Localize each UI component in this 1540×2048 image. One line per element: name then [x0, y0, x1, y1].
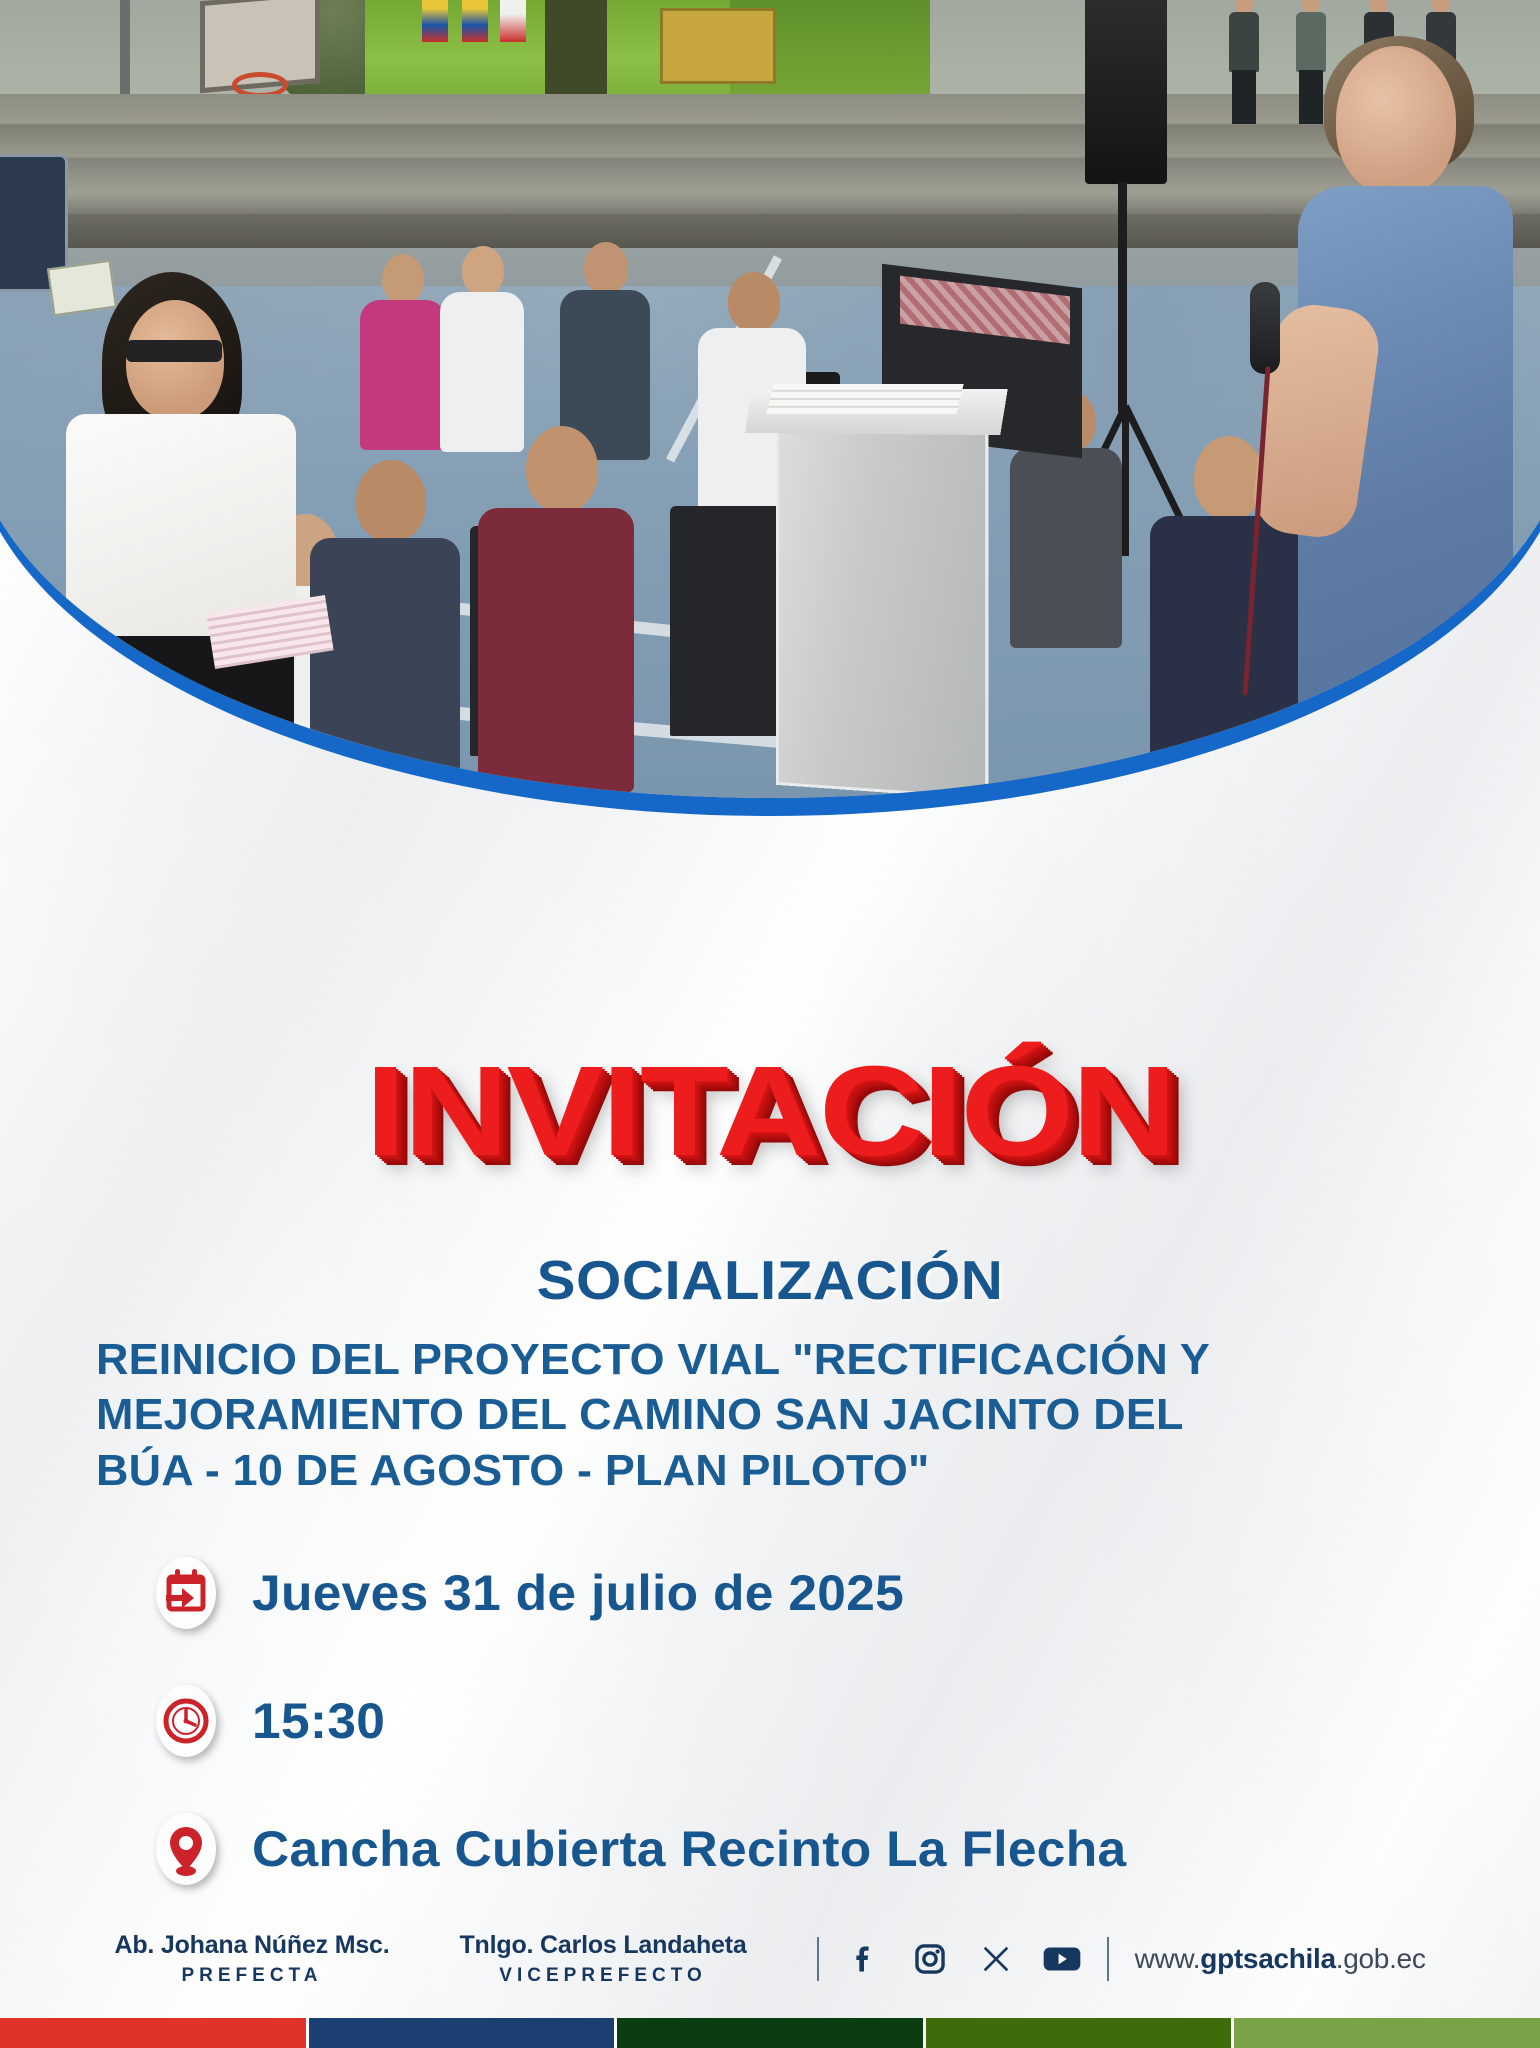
- speaker-stand: [1118, 182, 1127, 412]
- detail-row-date: Jueves 31 de julio de 2025: [156, 1545, 1306, 1641]
- facebook-icon[interactable]: [845, 1940, 883, 1978]
- flag-icon: [500, 0, 526, 42]
- color-block-red: [0, 2018, 309, 2048]
- instagram-icon[interactable]: [911, 1940, 949, 1978]
- header-photo-arc: [0, 0, 1540, 816]
- color-block-darkgreen: [617, 2018, 926, 2048]
- speaker-head: [1336, 46, 1456, 194]
- project-line-1: REINICIO DEL PROYECTO VIAL "RECTIFICACIÓ…: [96, 1332, 1218, 1387]
- signatory-name: Ab. Johana Núñez Msc.: [114, 1931, 389, 1960]
- divider: [817, 1937, 819, 1981]
- signatory-prefecta: Ab. Johana Núñez Msc. PREFECTA: [114, 1931, 389, 1987]
- chair: [670, 506, 790, 736]
- color-block-blue: [309, 2018, 618, 2048]
- signatory-role: VICEPREFECTO: [459, 1965, 746, 1987]
- color-block-lightgreen: [1234, 2018, 1540, 2048]
- audience-person: [478, 426, 634, 786]
- project-description: REINICIO DEL PROYECTO VIAL "RECTIFICACIÓ…: [96, 1332, 1218, 1498]
- youtube-icon[interactable]: [1043, 1940, 1081, 1978]
- website-suffix: .gob.ec: [1336, 1943, 1426, 1974]
- location-pin-icon: [156, 1813, 216, 1885]
- bottom-color-bar: [0, 2018, 1540, 2048]
- flag-icon: [462, 0, 488, 42]
- invitation-poster: INVITACIÓN SOCIALIZACIÓN REINICIO DEL PR…: [0, 0, 1540, 2048]
- website-brand: gptsachila: [1200, 1943, 1335, 1974]
- lanyard-badge: [47, 260, 117, 316]
- subtitle: SOCIALIZACIÓN: [0, 1248, 1540, 1312]
- podium: [776, 408, 988, 798]
- wall-board: [660, 8, 776, 84]
- detail-row-time: 15:30: [156, 1673, 1306, 1769]
- page-title: INVITACIÓN: [0, 1048, 1540, 1176]
- footer: Ab. Johana Núñez Msc. PREFECTA Tnlgo. Ca…: [0, 1922, 1540, 1996]
- detail-time-text: 15:30: [252, 1692, 385, 1750]
- detail-date-text: Jueves 31 de julio de 2025: [252, 1564, 904, 1622]
- signatory-viceprefecto: Tnlgo. Carlos Landaheta VICEPREFECTO: [459, 1931, 746, 1987]
- divider: [1107, 1937, 1109, 1981]
- tripod-leg: [1122, 406, 1129, 556]
- microphone-icon: [1250, 282, 1280, 374]
- detail-row-location: Cancha Cubierta Recinto La Flecha: [156, 1801, 1306, 1897]
- audience-person-foreground: [60, 286, 310, 798]
- audience-person: [360, 254, 446, 444]
- signatory-role: PREFECTA: [114, 1965, 389, 1987]
- website-prefix: www.: [1135, 1943, 1201, 1974]
- header-photo: [0, 0, 1540, 798]
- social-links: [845, 1940, 1081, 1978]
- calendar-icon: [156, 1557, 216, 1629]
- audience-person: [440, 246, 524, 446]
- website-url[interactable]: www.gptsachila.gob.ec: [1135, 1943, 1426, 1975]
- detail-location-text: Cancha Cubierta Recinto La Flecha: [252, 1820, 1126, 1878]
- officer-figure: [1225, 0, 1263, 124]
- signatory-name: Tnlgo. Carlos Landaheta: [459, 1931, 746, 1960]
- doorway: [545, 0, 607, 94]
- flag-icon: [422, 0, 448, 42]
- clock-icon: [156, 1685, 216, 1757]
- project-line-2: MEJORAMIENTO DEL CAMINO SAN JACINTO DEL: [96, 1387, 1218, 1442]
- color-block-olive: [926, 2018, 1235, 2048]
- podium-papers: [766, 384, 963, 414]
- audience-person: [310, 460, 460, 790]
- x-twitter-icon[interactable]: [977, 1940, 1015, 1978]
- project-line-3: BÚA - 10 DE AGOSTO - PLAN PILOTO": [96, 1443, 1218, 1498]
- audience-person: [560, 242, 650, 452]
- speaker-person: [1290, 46, 1540, 798]
- event-details: Jueves 31 de julio de 2025 15:30: [156, 1545, 1306, 1929]
- loudspeaker: [1085, 0, 1167, 184]
